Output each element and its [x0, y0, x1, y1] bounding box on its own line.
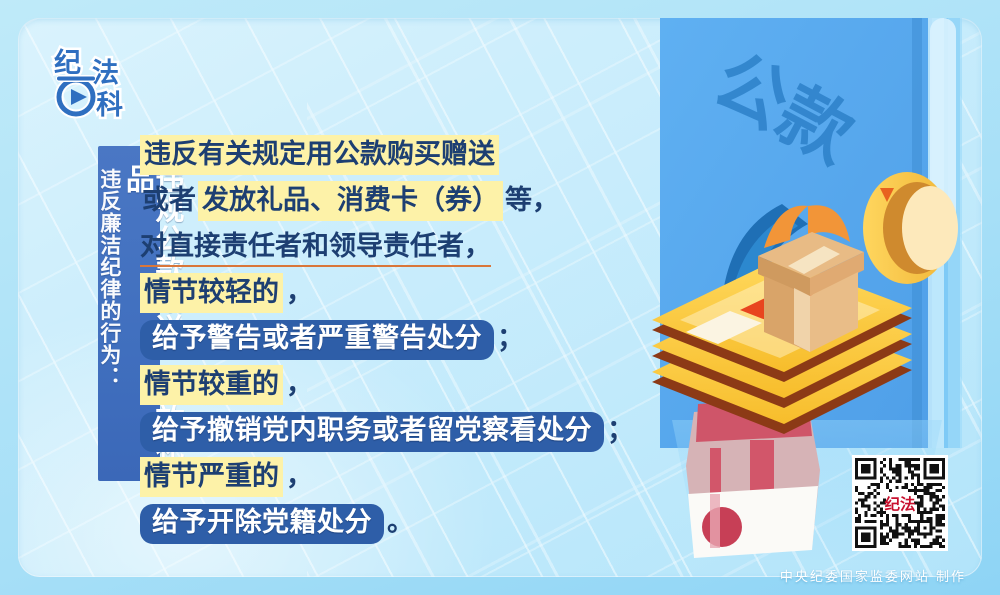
- regulation-line: 情节较轻的，: [140, 270, 610, 316]
- regulation-text-block: 违反有关规定用公款购买赠送或者发放礼品、消费卡（券）等，对直接责任者和领导责任者…: [140, 132, 610, 546]
- credit-text: 中央纪委国家监委网站 制作: [0, 566, 966, 585]
- regulation-line: 给予撤销党内职务或者留党察看处分；: [140, 408, 610, 454]
- text-segment-pill-blue: 给予撤销党内职务或者留党察看处分: [140, 412, 604, 452]
- brand-block: 纪 纪 法 法 科 科 违规公款赠送、发放礼品: [48, 42, 140, 122]
- logo-play-circle-icon: [56, 75, 96, 114]
- text-segment-underline-orange: 对直接责任者和领导责任者，: [140, 231, 491, 267]
- text-segment-punct: ，: [283, 461, 313, 492]
- text-segment-highlight-yellow: 情节严重的: [140, 457, 283, 497]
- poster-root: 公款: [0, 0, 1000, 595]
- text-segment-highlight-yellow: 情节较重的: [140, 365, 283, 405]
- text-segment-punct: ，: [283, 369, 313, 400]
- regulation-line: 情节较重的，: [140, 362, 610, 408]
- text-segment-highlight-yellow: 情节较轻的: [140, 273, 283, 313]
- text-segment-highlight-yellow: 发放礼品、消费卡（券）: [198, 181, 503, 221]
- text-segment-punct: ；: [494, 323, 524, 354]
- regulation-line: 违反有关规定用公款购买赠送: [140, 132, 610, 178]
- svg-text:纪法: 纪法: [884, 495, 915, 514]
- text-segment-plain: 或者: [140, 185, 198, 216]
- regulation-line: 或者发放礼品、消费卡（券）等，: [140, 178, 610, 224]
- regulation-line: 给予开除党籍处分。: [140, 500, 610, 546]
- text-segment-punct: 。: [384, 507, 414, 538]
- text-segment-pill-blue: 给予开除党籍处分: [140, 504, 384, 544]
- logo-char-fa: 法: [92, 58, 119, 89]
- regulation-line: 对直接责任者和领导责任者，: [140, 224, 610, 270]
- regulation-line: 给予警告或者严重警告处分；: [140, 316, 610, 362]
- text-segment-punct: ，: [283, 277, 313, 308]
- text-segment-plain: 等，: [503, 185, 561, 216]
- text-segment-highlight-yellow: 违反有关规定用公款购买赠送: [140, 135, 499, 175]
- banner-sub-text: 违反廉洁纪律的行为：: [99, 152, 120, 492]
- text-segment-punct: ；: [604, 415, 634, 446]
- logo-char-ke: 科: [96, 90, 123, 121]
- qr-code[interactable]: 纪法: [852, 455, 948, 551]
- jifa-baike-logo-icon: 纪 纪 法 法 科 科: [48, 42, 140, 122]
- qr-center-logo: 纪法: [884, 494, 915, 514]
- qr-code-canvas: 纪法: [855, 458, 945, 548]
- logo-char-ji: 纪: [54, 47, 81, 79]
- person-apron-button: [702, 507, 742, 547]
- regulation-line: 情节严重的，: [140, 454, 610, 500]
- text-segment-pill-blue: 给予警告或者严重警告处分: [140, 320, 494, 360]
- brand-logo: 纪 纪 法 法 科 科: [48, 42, 140, 122]
